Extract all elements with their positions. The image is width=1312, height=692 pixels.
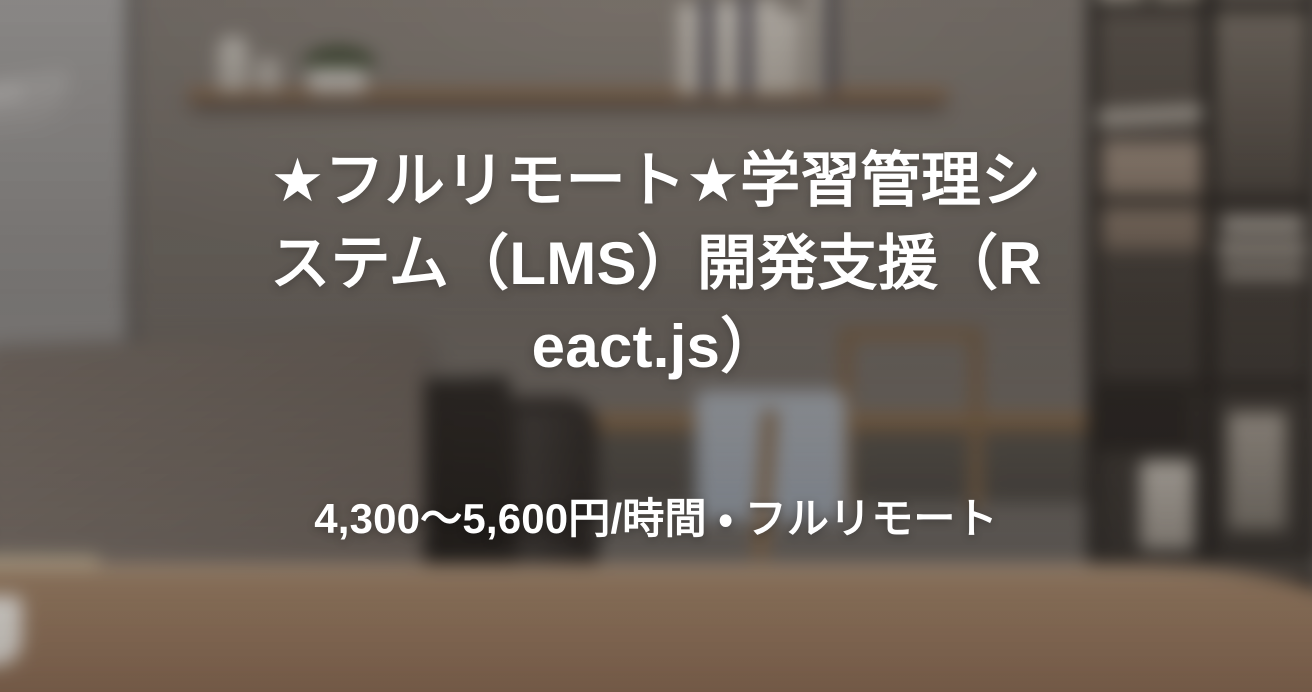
banner-title: ★フルリモート★学習管理システム（LMS）開発支援（React.js） [256,140,1056,388]
banner-content: ★フルリモート★学習管理システム（LMS）開発支援（React.js） 4,30… [0,0,1312,692]
job-banner: ★フルリモート★学習管理システム（LMS）開発支援（React.js） 4,30… [0,0,1312,692]
banner-subtitle: 4,300〜5,600円/時間 ・ フルリモート [314,492,998,547]
